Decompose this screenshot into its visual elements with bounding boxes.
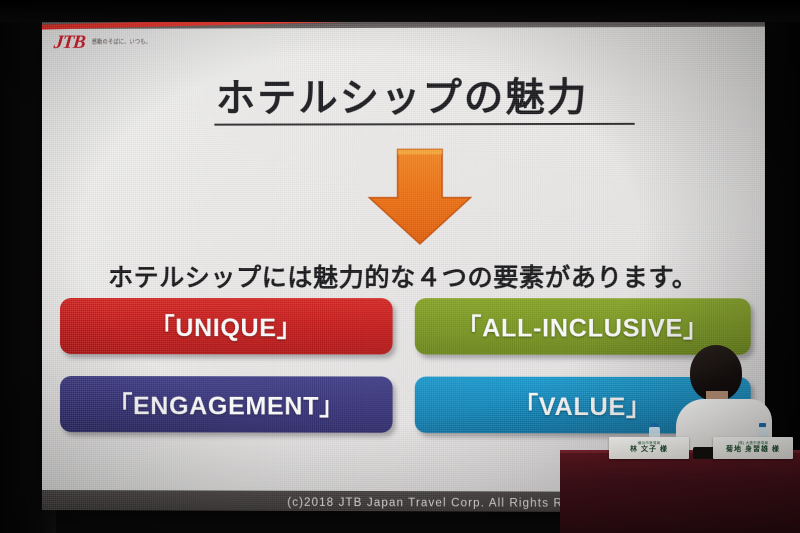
feature-box-unique: 「UNIQUE」 [60,298,393,354]
down-arrow-icon [366,147,473,246]
jtb-logo-mark: JTB [53,33,86,52]
nameplate-right-name: 菊地 身習雄 様 [726,446,780,454]
hall-top-darkness [0,0,800,22]
feature-box-engagement-label: 「ENGAGEMENT」 [107,386,345,423]
presentation-slide: JTB 感動のそばに、いつも。 ホテルシップの魅力 [42,18,765,493]
feature-box-grid: 「UNIQUE」 「ALL-INCLUSIVE」 「ENGAGEMENT」 「V… [60,298,751,434]
feature-box-unique-label: 「UNIQUE」 [150,308,303,344]
jtb-logo: JTB 感動のそばに、いつも。 [54,33,151,52]
title-underline [214,123,634,126]
jtb-tagline: 感動のそばに、いつも。 [92,38,151,46]
feature-box-value-label: 「VALUE」 [513,387,652,424]
nameplate-right: (株) 大連市港湾局 菊地 身習雄 様 [713,437,793,459]
page-title: ホテルシップの魅力 [42,66,765,124]
feature-box-all-inclusive-label: 「ALL-INCLUSIVE」 [456,308,709,344]
feature-box-engagement: 「ENGAGEMENT」 [60,376,393,433]
panel-table-front [560,453,800,533]
slide-subtitle: ホテルシップには魅力的な４つの要素があります。 [42,258,765,294]
nameplate-left-name: 林 文子 様 [630,446,668,454]
nameplate-left: 横浜市港湾局 林 文子 様 [609,437,689,459]
stage-scene: JTB 感動のそばに、いつも。 ホテルシップの魅力 [0,0,800,533]
